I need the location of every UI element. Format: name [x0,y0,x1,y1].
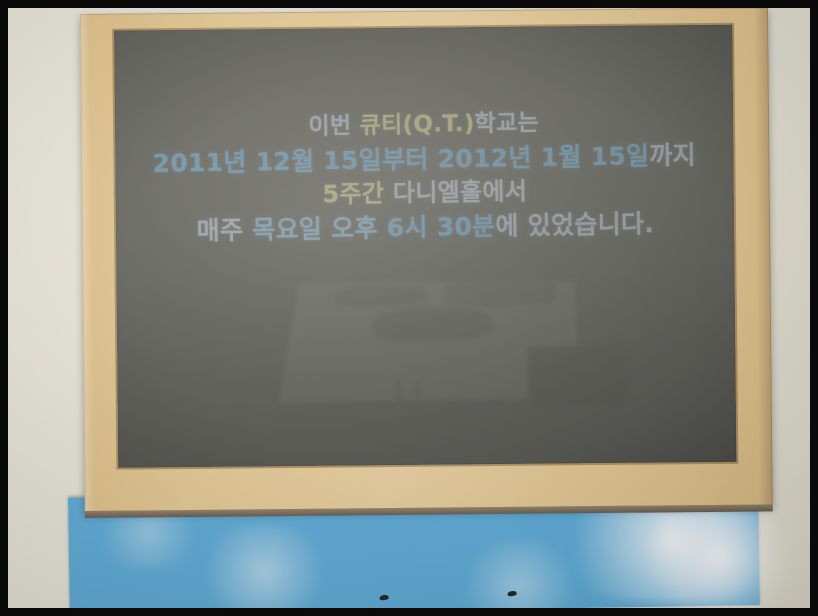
ghost-shape [527,344,629,407]
slide-line-3-segment-1: 5주간 [322,180,393,209]
wooden-frame: 이번 큐티(Q.T.)학교는 2011년 12월 15일부터 2012년 1월 … [80,8,773,512]
photograph: 이번 큐티(Q.T.)학교는 2011년 12월 15일부터 2012년 1월 … [0,0,818,616]
photo-content: 이번 큐티(Q.T.)학교는 2011년 12월 15일부터 2012년 1월 … [8,8,810,608]
ghost-shape [335,284,426,307]
slide-line-1-segment-3: 학교는 [474,110,539,137]
slide-line-2-segment-1: 2011년 12월 15일부터 2012년 1월 15일 [152,141,649,178]
slide-line-1-segment-2: 큐티(Q.T.) [359,111,474,139]
slide-line-2-segment-2: 까지 [649,140,696,170]
slide-line-1-segment-1: 이번 [308,113,360,140]
slide-line-3-segment-2: 다니엘홀에서 [393,178,528,208]
slide-line-3: 5주간 다니엘홀에서 [116,176,734,210]
slide-line-1: 이번 큐티(Q.T.)학교는 [115,109,733,142]
bird-icon [379,594,389,600]
slide-text-block: 이번 큐티(Q.T.)학교는 2011년 12월 15일부터 2012년 1월 … [115,109,735,255]
ghost-shape [445,278,556,307]
slide-line-4-segment-4: 에 있었습니다. [495,209,654,240]
slide-line-4-segment-3: 6시 30분 [387,212,496,243]
slide-line-2: 2011년 12월 15일부터 2012년 1월 15일까지 [115,142,733,177]
slide-line-4: 매주 목요일 오후 6시 30분에 있었습니다. [116,210,734,245]
slide-line-4-segment-1: 매주 [196,216,252,246]
projection-screen: 이번 큐티(Q.T.)학교는 2011년 12월 15일부터 2012년 1월 … [114,25,736,468]
cloud-shape [188,524,339,608]
ghost-image [275,272,629,433]
slide-line-4-segment-2: 목요일 오후 [252,213,387,244]
